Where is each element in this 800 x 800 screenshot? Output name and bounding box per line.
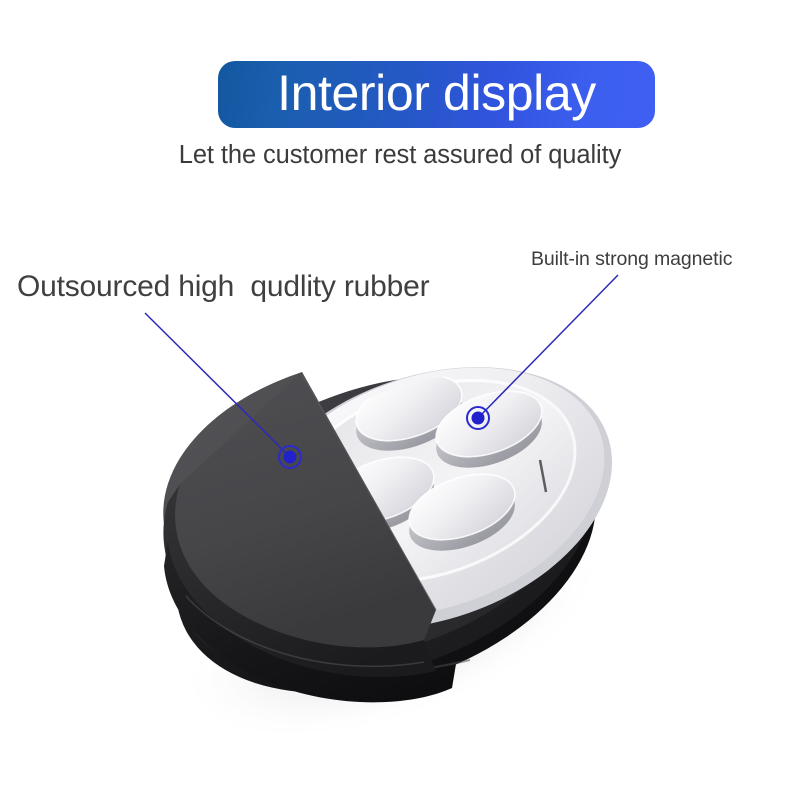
callout-built-in-magnetic xyxy=(467,275,618,429)
interior-well xyxy=(258,346,602,620)
rubber-bottom-lip xyxy=(164,540,456,702)
rubber-cut-face xyxy=(175,372,436,647)
callout-outsourced-rubber xyxy=(145,313,301,468)
magnet-pad-4 xyxy=(401,462,524,564)
rubber-shell-dome xyxy=(163,372,436,637)
title-banner: Interior display xyxy=(218,61,655,128)
rubber-shell-top xyxy=(168,374,432,648)
puck-bottom-rim xyxy=(137,351,635,746)
magnet-pad-3 xyxy=(320,445,443,546)
interior-assembly xyxy=(209,321,648,675)
product-shadow xyxy=(152,469,632,788)
cut-face-highlight xyxy=(302,374,436,610)
puck-outer-ring-top xyxy=(137,324,627,711)
callout-leader-line-magnetic xyxy=(480,275,618,416)
callout-dot-ring-rubber xyxy=(279,446,301,468)
callout-leader-line-rubber xyxy=(145,313,288,455)
callout-dot-rubber xyxy=(284,451,297,464)
rim-seam-line xyxy=(186,618,470,673)
rim-notch xyxy=(540,460,546,492)
product-marketing-image: Interior display Let the customer rest a… xyxy=(0,0,800,800)
interior-outer-ring xyxy=(209,321,648,675)
page-title: Interior display xyxy=(277,68,596,122)
rubber-bottom-seam xyxy=(186,596,424,666)
callout-label-outsourced-rubber: Outsourced high qudlity rubber xyxy=(17,270,429,304)
magnet-pad-2 xyxy=(428,379,551,481)
magnet-pad-1 xyxy=(348,363,471,464)
subtitle: Let the customer rest assured of quality xyxy=(0,141,800,170)
callout-dot-magnetic xyxy=(472,412,485,425)
interior-plate xyxy=(222,324,638,661)
puck-side-wall xyxy=(136,340,631,732)
interior-well-highlight xyxy=(258,344,602,618)
callout-dot-ring-magnetic xyxy=(467,407,489,429)
magnet-group xyxy=(320,363,551,564)
rubber-front-thickness xyxy=(163,484,436,680)
callout-label-built-in-magnetic: Built-in strong magnetic xyxy=(531,248,732,271)
